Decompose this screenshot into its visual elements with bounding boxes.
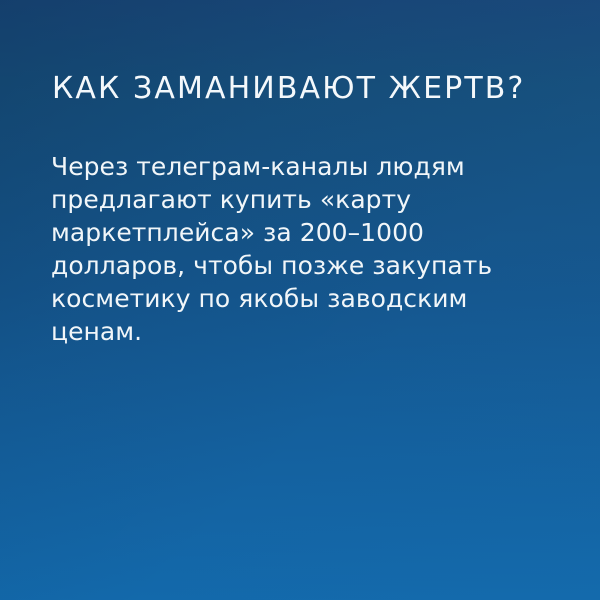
slide-body-text: Через телеграм-каналы людям предлагают к…	[51, 150, 521, 348]
page-title: КАК ЗАМАНИВАЮТ ЖЕРТВ?	[52, 72, 525, 105]
slide-canvas: КАК ЗАМАНИВАЮТ ЖЕРТВ? Через телеграм-кан…	[0, 0, 600, 600]
